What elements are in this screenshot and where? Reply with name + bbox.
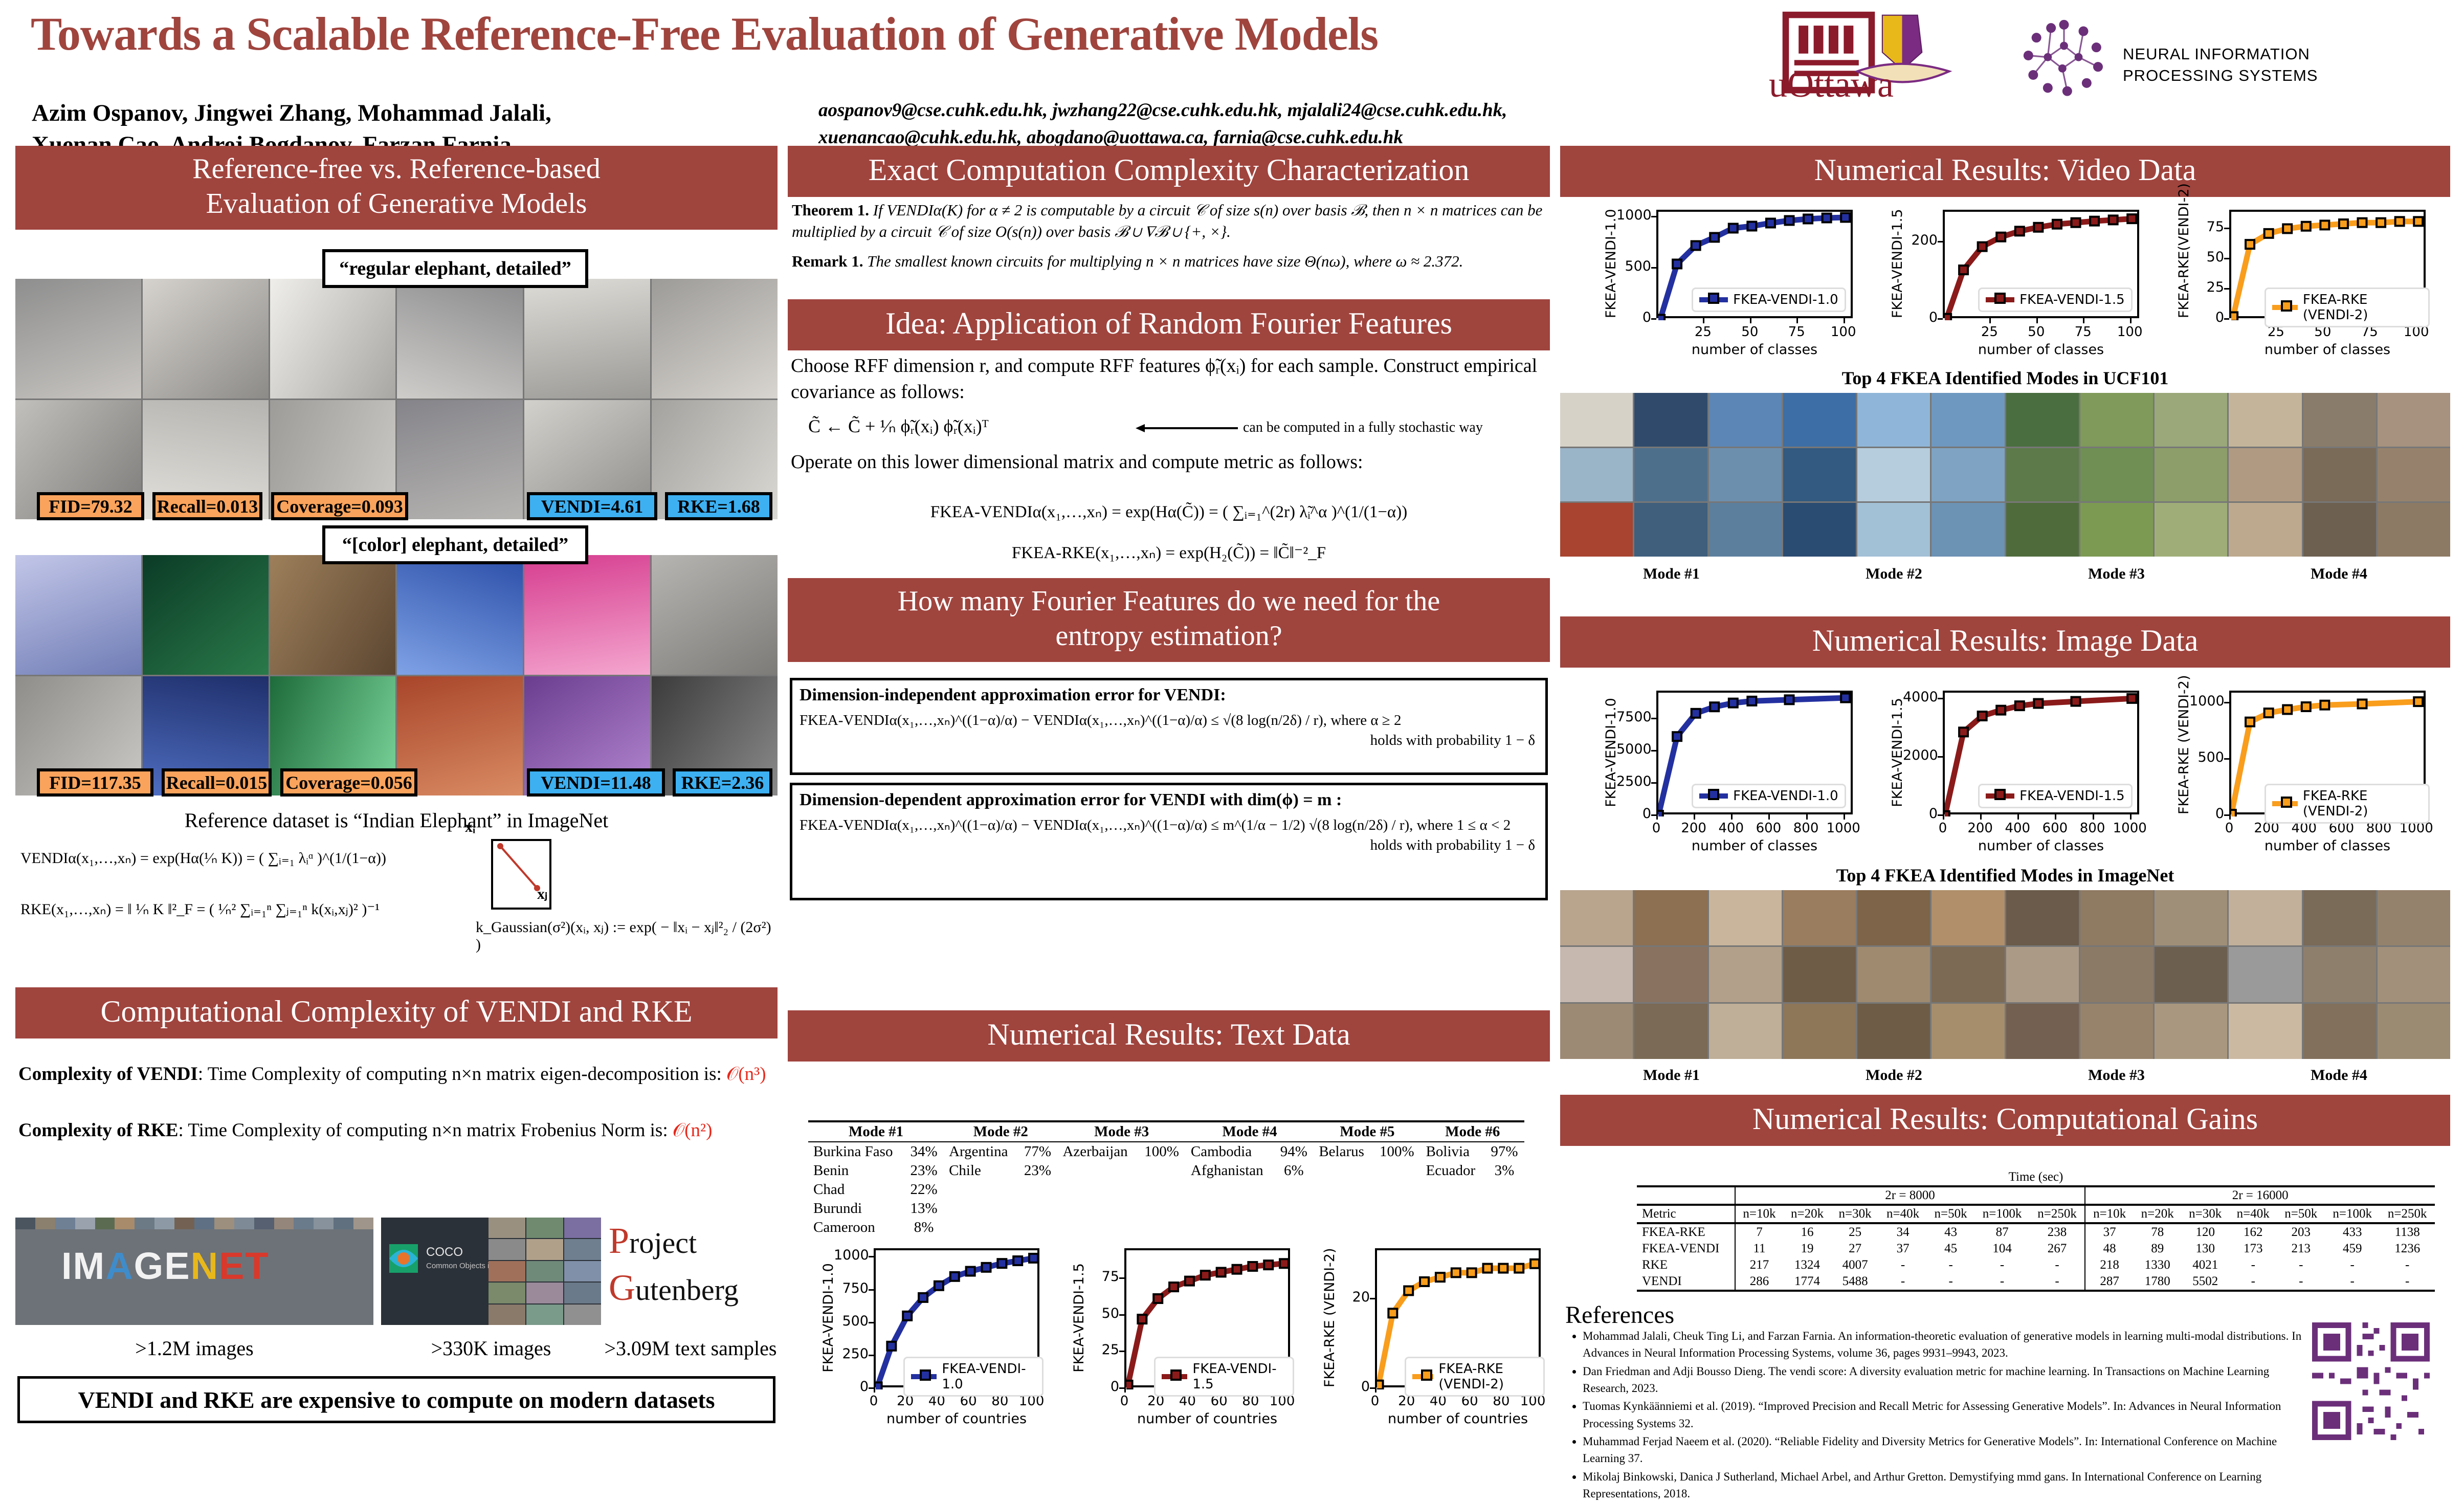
- section-header-exact-computation: Exact Computation Complexity Characteriz…: [788, 146, 1550, 197]
- chart-legend: FKEA-VENDI-1.0: [903, 1357, 1044, 1397]
- y-tick-mark: [2224, 814, 2229, 816]
- neurips-wordmark-line2: PROCESSING SYSTEMS: [2123, 67, 2318, 85]
- gains-r3-g1-6: -: [2030, 1273, 2085, 1291]
- legend-marker-icon: [1699, 297, 1728, 302]
- x-axis-label: number of classes: [1943, 342, 2139, 358]
- cell-m2-pct-1: 23%: [1017, 1161, 1057, 1180]
- cell-m1-pct-0: 34%: [904, 1142, 944, 1161]
- legend-marker-icon: [1162, 1374, 1187, 1379]
- legend-label: FKEA-RKE (VENDI-2): [1438, 1361, 1537, 1392]
- formula-rke: RKE(x₁,…,xₙ) = ‖ ¹⁄ₙ K ‖²_F = ( ¹⁄ₙ² ∑ᵢ₌…: [20, 900, 471, 918]
- y-axis-label: FKEA-VENDI-1.5: [1071, 1248, 1087, 1387]
- theorem-text: If VENDIα(K) for α ≠ 2 is computable by …: [792, 201, 1542, 240]
- gains-col-g1-0: n=10k: [1735, 1205, 1784, 1223]
- references-list: Mohammad Jalali, Cheuk Ting Li, and Farz…: [1565, 1328, 2314, 1503]
- th-mode-5: Mode #5: [1314, 1121, 1420, 1142]
- ucf-mode-4-label: Mode #4: [2228, 565, 2450, 583]
- y-tick-label: 4000: [1903, 689, 1938, 705]
- x-tick-mark: [1703, 318, 1704, 323]
- x-tick-mark: [1750, 318, 1751, 323]
- table-row: Burkina Faso 34% Argentina 77% Azerbaija…: [808, 1142, 1524, 1161]
- th-mode-2: Mode #2: [944, 1121, 1057, 1142]
- table-row: Cameroon 8%: [808, 1218, 1524, 1237]
- theorem-label: Theorem 1.: [792, 201, 869, 219]
- remark-text: The smallest known circuits for multiply…: [867, 252, 1463, 270]
- y-tick-mark: [2224, 288, 2229, 290]
- kernel-xi-label: xᵢ: [465, 819, 475, 836]
- table-row: VENDI 286 1774 5488 - - - - 287 1780 550…: [1637, 1273, 2435, 1291]
- section-header-video-data: Numerical Results: Video Data: [1560, 146, 2450, 197]
- rff-paragraph-1: Choose RFF dimension r, and compute RFF …: [791, 353, 1548, 406]
- table-row: Chad 22%: [808, 1180, 1524, 1199]
- cell-m6-pct-0: 97%: [1484, 1142, 1524, 1161]
- th-mode-4: Mode #4: [1186, 1121, 1314, 1142]
- x-tick-label: 100: [2106, 324, 2154, 340]
- ucf-mode-1-label: Mode #1: [1560, 565, 1783, 583]
- cell-m2-name-1: Chile: [944, 1161, 1017, 1180]
- gains-col-g2-6: n=250k: [2380, 1205, 2435, 1223]
- gains-col-g2-3: n=40k: [2229, 1205, 2277, 1223]
- formula-vendi: VENDIα(x₁,…,xₙ) = exp(Hα(¹⁄ₙ K)) = ( ∑ᵢ₌…: [20, 849, 465, 867]
- chart-legend: FKEA-VENDI-1.0: [1692, 784, 1846, 808]
- cell-m5-pct-0: 100%: [1373, 1142, 1420, 1161]
- complexity-vendi-order: 𝒪(n³): [726, 1064, 766, 1085]
- gains-r3-g1-5: -: [1974, 1273, 2029, 1291]
- chart-image-rke: 0500100002004006008001000FKEA-RKE (VENDI…: [2164, 686, 2430, 854]
- gains-r3-g2-6: -: [2380, 1273, 2435, 1291]
- bound-1-note: holds with probability 1 − δ: [792, 730, 1545, 751]
- table-row: FKEA-RKE 7 16 25 34 43 87 238 37 78 120 …: [1637, 1223, 2435, 1241]
- y-tick-mark: [2224, 258, 2229, 259]
- y-tick-label: 25: [1084, 1342, 1119, 1358]
- legend-label: FKEA-VENDI-1.0: [1733, 292, 1838, 307]
- gains-r2-g2-2: 4021: [2181, 1257, 2229, 1273]
- chart-legend: FKEA-VENDI-1.5: [1978, 784, 2133, 808]
- gains-r0-g2-4: 203: [2277, 1223, 2325, 1241]
- cell-m6-name-0: Bolivia: [1421, 1142, 1484, 1161]
- x-tick-mark: [1796, 318, 1798, 323]
- y-tick-mark: [1938, 756, 1943, 758]
- x-axis-label: number of countries: [874, 1411, 1039, 1427]
- cell-m4-pct-1: 6%: [1274, 1161, 1314, 1180]
- x-tick-label: 50: [1726, 324, 1773, 340]
- gains-r3-g2-5: -: [2325, 1273, 2380, 1291]
- imagenet-mode-3-label: Mode #3: [2005, 1067, 2228, 1084]
- gains-col-g1-4: n=50k: [1927, 1205, 1975, 1223]
- elephant-grid-regular: [15, 279, 778, 519]
- y-tick-mark: [2224, 702, 2229, 703]
- metric-badge-recall-2: Recall=0.015: [162, 768, 272, 797]
- x-tick-label: 1000: [1820, 821, 1867, 836]
- gains-r0-g2-0: 37: [2085, 1223, 2134, 1241]
- x-tick-label: 25: [1679, 324, 1726, 340]
- gains-r2-g2-5: -: [2325, 1257, 2380, 1273]
- y-tick-mark: [1651, 782, 1656, 784]
- y-tick-label: 7500: [1616, 709, 1651, 725]
- x-tick-mark: [2017, 814, 2019, 820]
- gains-r3-g2-2: 5502: [2181, 1273, 2229, 1291]
- uottawa-logo: uOttawa: [1765, 7, 1980, 125]
- gains-col-g1-2: n=30k: [1831, 1205, 1879, 1223]
- gains-col-g2-2: n=30k: [2181, 1205, 2229, 1223]
- y-tick-mark: [869, 1355, 874, 1356]
- y-tick-mark: [1651, 718, 1656, 719]
- legend-marker-icon: [2272, 305, 2298, 310]
- gains-r3-g2-4: -: [2277, 1273, 2325, 1291]
- y-tick-label: 25: [2189, 279, 2224, 295]
- x-tick-label: 25: [1966, 324, 2013, 340]
- y-tick-label: 2000: [1903, 747, 1938, 763]
- y-tick-label: 0: [1616, 310, 1651, 325]
- x-axis-label: number of countries: [1124, 1411, 1290, 1427]
- imagenet-mode-2-label: Mode #2: [1783, 1067, 2005, 1084]
- x-tick-mark: [2229, 814, 2231, 820]
- gains-r2-g1-1: 1324: [1783, 1257, 1831, 1273]
- table-row: Burundi 13%: [808, 1199, 1524, 1218]
- gains-r1-g1-3: 37: [1879, 1241, 1927, 1257]
- gains-r2-g2-0: 218: [2085, 1257, 2134, 1273]
- cell-m1-pct-2: 22%: [904, 1180, 944, 1199]
- y-tick-mark: [1651, 267, 1656, 269]
- reference-item: Mikolaj Binkowski, Danica J Sutherland, …: [1583, 1468, 2314, 1502]
- legend-marker-icon: [2272, 801, 2298, 806]
- gains-col-g1-1: n=20k: [1783, 1205, 1831, 1223]
- gains-r0-g1-0: 7: [1735, 1223, 1784, 1241]
- y-tick-mark: [1370, 1298, 1375, 1299]
- y-axis-label: FKEA-RKE(VENDI-2): [2176, 210, 2192, 318]
- how-many-line2: entropy estimation?: [792, 618, 1546, 653]
- metric-badge-coverage-1: Coverage=0.093: [271, 492, 408, 520]
- y-tick-mark: [1651, 318, 1656, 320]
- gains-r2-g2-1: 1330: [2134, 1257, 2182, 1273]
- y-tick-label: 750: [834, 1280, 869, 1296]
- gains-r1-g1-2: 27: [1831, 1241, 1879, 1257]
- y-tick-mark: [869, 1322, 874, 1323]
- gains-r1-g2-6: 1236: [2380, 1241, 2435, 1257]
- y-tick-label: 0: [1335, 1379, 1370, 1395]
- chart-image-vendi-1-5: 02000400002004006008001000FKEA-VENDI-1.5…: [1877, 686, 2143, 854]
- chart-text-vendi-1-5: 0255075020406080100FKEA-VENDI-1.5number …: [1059, 1243, 1294, 1427]
- y-tick-mark: [1119, 1314, 1124, 1316]
- metric-badge-fid-1: FID=79.32: [37, 492, 144, 520]
- coco-wordmark: COCO: [426, 1245, 463, 1259]
- table-row: 2r = 8000 2r = 16000: [1637, 1186, 2435, 1205]
- cell-m2-pct-0: 77%: [1017, 1142, 1057, 1161]
- references-heading: References: [1565, 1301, 1674, 1329]
- cell-m4-name-0: Cambodia: [1186, 1142, 1274, 1161]
- bound-box-dimension-dependent: Dimension-dependent approximation error …: [790, 783, 1548, 900]
- bound-2-formula: FKEA-VENDIα(x₁,…,xₙ)^((1−α)/α) − VENDIα(…: [792, 815, 1545, 835]
- legend-label: FKEA-VENDI-1.5: [2019, 292, 2125, 307]
- gains-r1-g1-6: 267: [2030, 1241, 2085, 1257]
- y-tick-label: 500: [2189, 749, 2224, 765]
- gains-r3-g2-0: 287: [2085, 1273, 2134, 1291]
- image-modes-caption: Top 4 FKEA Identified Modes in ImageNet: [1560, 865, 2450, 886]
- gains-col-g1-6: n=250k: [2030, 1205, 2085, 1223]
- rff-covariance-formula: C̃ ← C̃ + ¹⁄ₙ ϕ̃ᵣ(xᵢ) ϕ̃ᵣ(xᵢ)ᵀ: [808, 415, 1125, 437]
- y-tick-label: 50: [1084, 1306, 1119, 1321]
- y-tick-label: 50: [2189, 249, 2224, 265]
- kernel-distance-diagram: xᵢ xⱼ: [491, 839, 551, 910]
- metric-badge-rke-1: RKE=1.68: [665, 492, 772, 520]
- y-axis-label: FKEA-VENDI-1.0: [820, 1248, 836, 1387]
- y-axis-label: FKEA-RKE (VENDI-2): [1322, 1248, 1338, 1387]
- reference-item: Tuomas Kynkäänniemi et al. (2019). “Impr…: [1583, 1398, 2314, 1432]
- bound-2-header: Dimension-dependent approximation error …: [792, 785, 1545, 815]
- email-list: aospanov9@cse.cuhk.edu.hk, jwzhang22@cse…: [818, 97, 1565, 151]
- metric-badge-fid-2: FID=117.35: [37, 768, 153, 797]
- gains-r2-g1-5: -: [1974, 1257, 2029, 1273]
- bound-2-note: holds with probability 1 − δ: [792, 835, 1545, 856]
- bound-1-header: Dimension-independent approximation erro…: [792, 680, 1545, 710]
- x-tick-label: 75: [1773, 324, 1820, 340]
- coco-logo: COCO Common Objects in Context: [381, 1218, 601, 1325]
- gains-col-g1-5: n=100k: [1974, 1205, 2029, 1223]
- y-tick-label: 0: [2189, 310, 2224, 325]
- gains-r3-g2-3: -: [2229, 1273, 2277, 1291]
- chart-legend: FKEA-RKE (VENDI-2): [2265, 784, 2430, 824]
- section-header-line1: Reference-free vs. Reference-based: [19, 151, 773, 186]
- chart-text-rke: 020020406080100FKEA-RKE (VENDI-2)number …: [1309, 1243, 1545, 1427]
- cell-m1-name-3: Burundi: [808, 1199, 904, 1218]
- cell-m1-name-1: Benin: [808, 1161, 904, 1180]
- metric-badge-coverage-2: Coverage=0.056: [280, 768, 417, 797]
- gains-r3-g1-1: 1774: [1783, 1273, 1831, 1291]
- legend-marker-icon: [1986, 793, 2014, 799]
- th-mode-3: Mode #3: [1057, 1121, 1185, 1142]
- chart-video-vendi-1-5: 0200255075100FKEA-VENDI-1.5number of cla…: [1877, 205, 2143, 358]
- how-many-line1: How many Fourier Features do we need for…: [792, 584, 1546, 618]
- legend-marker-icon: [1412, 1374, 1433, 1379]
- gains-r1-g1-1: 19: [1783, 1241, 1831, 1257]
- imagenet-mode-grid: [1560, 890, 2450, 1059]
- y-tick-mark: [869, 1289, 874, 1291]
- x-tick-mark: [1656, 814, 1658, 820]
- x-tick-mark: [1989, 318, 1991, 323]
- chart-legend: FKEA-VENDI-1.5: [1978, 288, 2133, 312]
- remark-label: Remark 1.: [792, 252, 863, 270]
- formula-fkea-vendi: FKEA-VENDIα(x₁,…,xₙ) = exp(Hα(C̃)) = ( ∑…: [788, 501, 1550, 522]
- gains-r3-g1-0: 286: [1735, 1273, 1784, 1291]
- y-tick-label: 500: [1616, 258, 1651, 274]
- complexity-rke-text: : Time Complexity of computing n×n matri…: [178, 1120, 672, 1141]
- gains-row-1-metric: FKEA-VENDI: [1637, 1241, 1735, 1257]
- cell-m5-name-0: Belarus: [1314, 1142, 1373, 1161]
- section-header-how-many-features: How many Fourier Features do we need for…: [788, 578, 1550, 662]
- gains-r1-g2-4: 213: [2277, 1241, 2325, 1257]
- gains-col-g2-0: n=10k: [2085, 1205, 2134, 1223]
- x-tick-mark: [1844, 318, 1845, 323]
- metric-badge-vendi-1: VENDI=4.61: [527, 492, 657, 520]
- chart-legend: FKEA-VENDI-1.5: [1154, 1357, 1294, 1397]
- y-tick-mark: [1370, 1387, 1375, 1389]
- y-tick-mark: [2224, 318, 2229, 320]
- gains-col-g2-1: n=20k: [2134, 1205, 2182, 1223]
- gains-col-g2-5: n=100k: [2325, 1205, 2380, 1223]
- y-axis-label: FKEA-VENDI-1.5: [1890, 691, 1905, 814]
- remark-1: Remark 1. The smallest known circuits fo…: [792, 251, 1548, 272]
- gains-r1-g2-5: 459: [2325, 1241, 2380, 1257]
- gains-r0-g1-2: 25: [1831, 1223, 1879, 1241]
- rff-paragraph-2: Operate on this lower dimensional matrix…: [791, 449, 1548, 475]
- y-tick-label: 0: [2189, 806, 2224, 822]
- cell-m3-name-0: Azerbaijan: [1057, 1142, 1138, 1161]
- gains-row-2-metric: RKE: [1637, 1257, 1735, 1273]
- legend-label: FKEA-VENDI-1.0: [942, 1361, 1036, 1392]
- y-tick-label: 0: [1616, 806, 1651, 822]
- gains-r1-g2-0: 48: [2085, 1241, 2134, 1257]
- y-tick-label: 0: [1084, 1379, 1119, 1395]
- cell-m4-pct-0: 94%: [1274, 1142, 1314, 1161]
- cell-m1-pct-3: 13%: [904, 1199, 944, 1218]
- metric-badge-recall-1: Recall=0.013: [152, 492, 262, 520]
- reference-item: Mohammad Jalali, Cheuk Ting Li, and Farz…: [1583, 1328, 2314, 1362]
- rff-arrow-icon: [1136, 422, 1238, 435]
- gains-r2-g1-3: -: [1879, 1257, 1927, 1273]
- prompt-label-regular: “regular elephant, detailed”: [322, 249, 588, 288]
- gutenberg-logo: Project Gutenberg: [609, 1218, 778, 1325]
- gains-col-g2-4: n=50k: [2277, 1205, 2325, 1223]
- reference-item: Dan Friedman and Adji Bousso Dieng. The …: [1583, 1363, 2314, 1397]
- y-tick-label: 1000: [2189, 693, 2224, 709]
- uottawa-wordmark: uOttawa: [1769, 63, 1894, 106]
- gains-r0-g1-3: 34: [1879, 1223, 1927, 1241]
- gains-r0-g1-5: 87: [1974, 1223, 2029, 1241]
- gains-r1-g2-3: 173: [2229, 1241, 2277, 1257]
- gains-r2-g2-6: -: [2380, 1257, 2435, 1273]
- computational-gains-table: Time (sec) 2r = 8000 2r = 16000 Metric n…: [1637, 1169, 2435, 1292]
- table-row: FKEA-VENDI 11 19 27 37 45 104 267 48 89 …: [1637, 1241, 2435, 1257]
- y-axis-label: FKEA-VENDI-1.5: [1890, 210, 1905, 318]
- cell-m1-name-4: Cameroon: [808, 1218, 904, 1237]
- y-tick-mark: [1938, 241, 1943, 242]
- section-header-image-data: Numerical Results: Image Data: [1560, 616, 2450, 668]
- x-tick-mark: [1768, 814, 1770, 820]
- y-tick-mark: [1938, 698, 1943, 699]
- gains-r3-g2-1: 1780: [2134, 1273, 2182, 1291]
- reference-item: Muhammad Ferjad Naeem et al. (2020). “Re…: [1583, 1433, 2314, 1467]
- y-tick-mark: [1119, 1277, 1124, 1279]
- y-axis-label: FKEA-VENDI-1.0: [1603, 691, 1619, 814]
- ucf-mode-2-label: Mode #2: [1783, 565, 2005, 583]
- table-header-row: Mode #1 Mode #2 Mode #3 Mode #4 Mode #5 …: [808, 1121, 1524, 1142]
- gains-r2-g1-4: -: [1927, 1257, 1975, 1273]
- section-header-rff: Idea: Application of Random Fourier Feat…: [788, 299, 1550, 350]
- table-row: Time (sec): [1637, 1169, 2435, 1186]
- y-tick-mark: [1651, 814, 1656, 816]
- x-tick-mark: [1124, 1387, 1126, 1393]
- x-axis-label: number of classes: [1943, 838, 2139, 854]
- gains-r0-g1-1: 16: [1783, 1223, 1831, 1241]
- y-tick-mark: [2224, 758, 2229, 760]
- th-mode-1: Mode #1: [808, 1121, 944, 1142]
- x-tick-mark: [1694, 814, 1695, 820]
- page-title: Towards a Scalable Reference-Free Evalua…: [31, 9, 1770, 59]
- qr-code-icon[interactable]: [2312, 1322, 2430, 1440]
- gains-time-header: Time (sec): [1637, 1169, 2435, 1186]
- table-header-row: Metric n=10k n=20k n=30k n=40k n=50k n=1…: [1637, 1205, 2435, 1223]
- legend-marker-icon: [911, 1374, 937, 1379]
- y-tick-mark: [869, 1387, 874, 1389]
- poster-root: Towards a Scalable Reference-Free Evalua…: [0, 0, 2464, 1446]
- cell-m1-pct-1: 23%: [904, 1161, 944, 1180]
- legend-label: FKEA-VENDI-1.0: [1733, 788, 1838, 804]
- chart-video-vendi-1-0: 05001000255075100FKEA-VENDI-1.0number of…: [1591, 205, 1857, 358]
- y-tick-label: 75: [1084, 1269, 1119, 1285]
- table-row: RKE 217 1324 4007 - - - - 218 1330 4021 …: [1637, 1257, 2435, 1273]
- formula-gaussian-kernel: k_Gaussian(σ²)(xᵢ, xⱼ) := exp( − ‖xᵢ − x…: [476, 918, 772, 954]
- gains-metric-header: Metric: [1637, 1205, 1735, 1223]
- y-tick-mark: [1938, 318, 1943, 320]
- x-tick-label: 100: [1820, 324, 1867, 340]
- theorem-1: Theorem 1. If VENDIα(K) for α ≠ 2 is com…: [792, 200, 1548, 242]
- gains-r3-g1-3: -: [1879, 1273, 1927, 1291]
- complexity-vendi-label: Complexity of VENDI: [18, 1064, 198, 1085]
- metric-badge-rke-2: RKE=2.36: [673, 768, 772, 797]
- y-tick-mark: [1938, 814, 1943, 816]
- gains-r0-g2-5: 433: [2325, 1223, 2380, 1241]
- cell-m1-name-0: Burkina Faso: [808, 1142, 904, 1161]
- gains-r0-g1-4: 43: [1927, 1223, 1975, 1241]
- text-modes-table: Mode #1 Mode #2 Mode #3 Mode #4 Mode #5 …: [808, 1120, 1524, 1237]
- gains-r1-g2-1: 89: [2134, 1241, 2182, 1257]
- coco-count: >330K images: [381, 1336, 601, 1360]
- section-header-computational-complexity: Computational Complexity of VENDI and RK…: [15, 987, 778, 1038]
- cell-m4-name-1: Afghanistan: [1186, 1161, 1274, 1180]
- x-tick-mark: [2130, 814, 2132, 820]
- gains-row-3-metric: VENDI: [1637, 1273, 1735, 1291]
- chart-legend: FKEA-RKE (VENDI-2): [2265, 288, 2430, 327]
- y-tick-mark: [1651, 750, 1656, 751]
- emails-line-1: aospanov9@cse.cuhk.edu.hk, jwzhang22@cse…: [818, 97, 1565, 124]
- chart-video-rke: 0255075255075100FKEA-RKE(VENDI-2)number …: [2164, 205, 2430, 358]
- gains-r0-g2-2: 120: [2181, 1223, 2229, 1241]
- x-tick-mark: [1980, 814, 1982, 820]
- chart-image-vendi-1-0: 025005000750002004006008001000FKEA-VENDI…: [1591, 686, 1857, 854]
- gains-group-2: 2r = 16000: [2085, 1186, 2435, 1205]
- cell-m1-name-2: Chad: [808, 1180, 904, 1199]
- gains-r2-g2-3: -: [2229, 1257, 2277, 1273]
- y-tick-mark: [2224, 228, 2229, 229]
- y-tick-label: 0: [1903, 310, 1938, 325]
- legend-marker-icon: [1986, 297, 2014, 302]
- x-tick-mark: [2130, 318, 2132, 323]
- y-tick-label: 0: [1903, 806, 1938, 822]
- gutenberg-count: >3.09M text samples: [604, 1336, 778, 1360]
- x-tick-mark: [1731, 814, 1733, 820]
- cell-m3-pct-0: 100%: [1138, 1142, 1185, 1161]
- bound-box-dimension-independent: Dimension-independent approximation erro…: [790, 678, 1548, 775]
- cell-m2-name-0: Argentina: [944, 1142, 1017, 1161]
- chart-legend: FKEA-RKE (VENDI-2): [1405, 1357, 1545, 1397]
- x-tick-mark: [2093, 814, 2094, 820]
- y-tick-label: 250: [834, 1346, 869, 1362]
- chart-legend: FKEA-VENDI-1.0: [1692, 288, 1846, 312]
- y-tick-label: 500: [834, 1313, 869, 1329]
- x-tick-mark: [874, 1387, 875, 1393]
- complexity-rke-label: Complexity of RKE: [18, 1120, 178, 1141]
- y-tick-label: 20: [1335, 1289, 1370, 1305]
- x-axis-label: number of classes: [1656, 838, 1853, 854]
- section-header-computational-gains: Numerical Results: Computational Gains: [1560, 1095, 2450, 1146]
- x-tick-label: 75: [2059, 324, 2106, 340]
- imagenet-logo: IMAGENET: [15, 1218, 373, 1325]
- complexity-vendi-text: : Time Complexity of computing n×n matri…: [198, 1064, 726, 1085]
- y-tick-label: 1000: [1616, 207, 1651, 223]
- section-header-text-data: Numerical Results: Text Data: [788, 1010, 1550, 1062]
- x-tick-label: 50: [2013, 324, 2060, 340]
- cell-m6-pct-1: 3%: [1484, 1161, 1524, 1180]
